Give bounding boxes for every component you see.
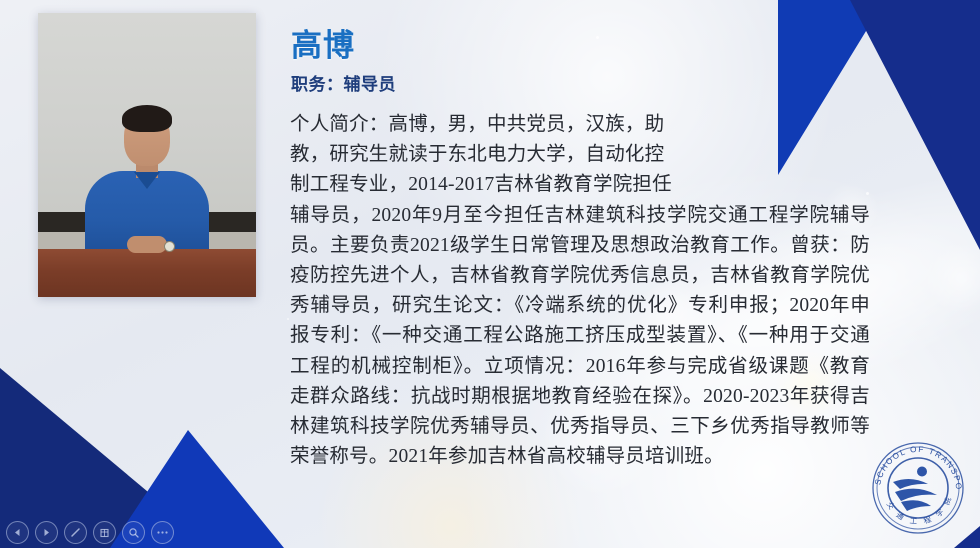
page-title: 高博 xyxy=(291,20,355,65)
role-subtitle: 职务：辅导员 xyxy=(291,70,396,95)
biography-text: 个人简介：高博，男，中共党员，汉族，助 教，研究生就读于东北电力大学，自动化控 … xyxy=(290,110,870,472)
portrait-photo xyxy=(38,13,256,297)
presentation-slide: 高博 职务：辅导员 个人简介：高博，男，中共党员，汉族，助 教，研究生就读于东北… xyxy=(0,0,980,548)
biography-line-2: 教，研究生就读于东北电力大学，自动化控 xyxy=(290,140,698,170)
biography-body: 辅导员，2020年9月至今担任吉林建筑科技学院交通工程学院辅导员。主要负责202… xyxy=(290,205,870,468)
portrait-photo-image xyxy=(38,13,256,297)
photo-person-hands xyxy=(127,236,167,253)
all-slides-button[interactable] xyxy=(93,521,116,544)
pen-tool-button[interactable] xyxy=(64,521,87,544)
next-slide-button[interactable] xyxy=(35,521,58,544)
photo-person-hair xyxy=(122,105,172,132)
biography-line-1: 个人简介：高博，男，中共党员，汉族，助 xyxy=(290,110,698,140)
svg-text:交 通 工 程 学 院: 交 通 工 程 学 院 xyxy=(885,493,954,526)
school-logo: SCHOOL OF TRANSPORTATION 交 通 工 程 学 院 xyxy=(866,436,970,540)
photo-desk xyxy=(38,249,256,297)
zoom-button[interactable] xyxy=(122,521,145,544)
biography-line-3: 制工程专业，2014-2017吉林省教育学院担任 xyxy=(290,170,698,200)
presentation-toolbar[interactable] xyxy=(6,521,174,544)
previous-slide-button[interactable] xyxy=(6,521,29,544)
more-options-button[interactable] xyxy=(151,521,174,544)
